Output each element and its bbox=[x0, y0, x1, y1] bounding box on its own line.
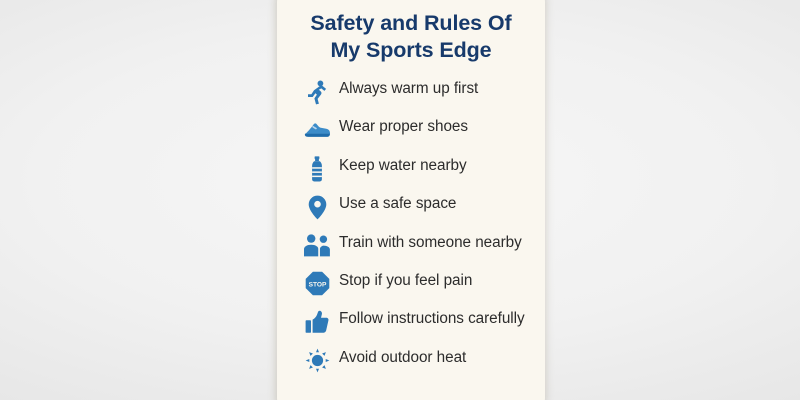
list-item: Follow instructions carefully bbox=[277, 308, 545, 346]
page-background: Safety and Rules Of My Sports Edge Alway… bbox=[0, 0, 800, 400]
list-item-label: Use a safe space bbox=[334, 193, 456, 214]
list-item-label: Stop if you feel pain bbox=[334, 270, 472, 291]
list-item-label: Follow instructions carefully bbox=[334, 308, 525, 329]
safety-rules-card: Safety and Rules Of My Sports Edge Alway… bbox=[277, 0, 545, 400]
list-item: Avoid outdoor heat bbox=[277, 347, 545, 385]
list-item: Use a safe space bbox=[277, 193, 545, 231]
two-people-icon bbox=[300, 233, 334, 259]
list-item-label: Wear proper shoes bbox=[334, 116, 468, 137]
running-person-icon bbox=[300, 79, 334, 105]
list-item: Wear proper shoes bbox=[277, 116, 545, 154]
list-item: Always warm up first bbox=[277, 78, 545, 116]
rules-list: Always warm up first Wear proper shoes bbox=[277, 78, 545, 385]
list-item: Train with someone nearby bbox=[277, 232, 545, 270]
list-item: STOP Stop if you feel pain bbox=[277, 270, 545, 308]
water-bottle-icon bbox=[300, 156, 334, 182]
list-item-label: Always warm up first bbox=[334, 78, 478, 99]
list-item-label: Train with someone nearby bbox=[334, 232, 522, 253]
location-pin-icon bbox=[300, 194, 334, 220]
list-item-label: Keep water nearby bbox=[334, 155, 467, 176]
list-item-label: Avoid outdoor heat bbox=[334, 347, 466, 368]
sun-icon bbox=[300, 348, 334, 374]
sneaker-icon bbox=[300, 117, 334, 143]
list-item: Keep water nearby bbox=[277, 155, 545, 193]
stop-sign-icon: STOP bbox=[300, 271, 334, 297]
page-title: Safety and Rules Of My Sports Edge bbox=[277, 10, 545, 64]
thumbs-up-icon bbox=[300, 309, 334, 335]
stop-sign-label: STOP bbox=[308, 282, 326, 289]
